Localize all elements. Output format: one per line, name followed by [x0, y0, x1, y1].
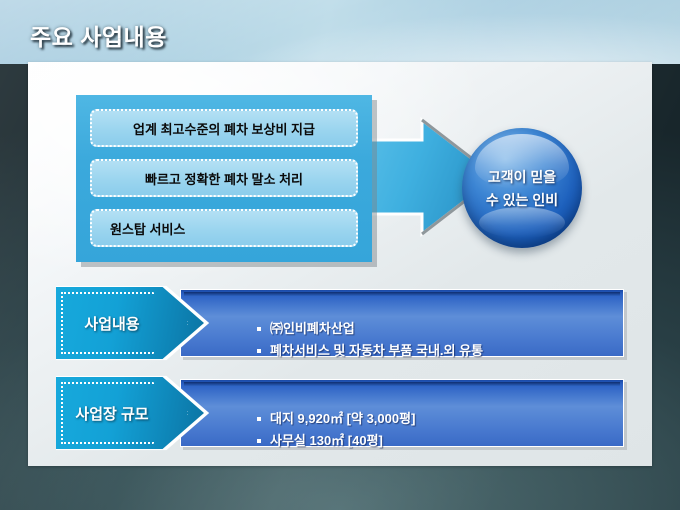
sphere-text: 고객이 믿을 수 있는 인비: [462, 128, 582, 248]
feature-box: 업계 최고수준의 폐차 보상비 지급 빠르고 정확한 폐차 말소 처리 원스탑 …: [76, 95, 372, 262]
info-row-bullets: 대지 9,920㎡ [약 3,000평] 사무실 130㎡ [40평]: [217, 408, 613, 452]
info-row-label: 사업장 규모: [56, 377, 204, 449]
slide-canvas: 주요 사업내용 업계 최고수준의 폐차 보상비 지급 빠르고 정확한 폐차 말소…: [0, 0, 680, 510]
row-top-edge: [184, 292, 620, 296]
list-item: 사무실 130㎡ [40평]: [257, 430, 613, 452]
sphere-badge: 고객이 믿을 수 있는 인비: [462, 128, 582, 248]
info-row-body: 대지 9,920㎡ [약 3,000평] 사무실 130㎡ [40평]: [180, 379, 624, 447]
feature-item[interactable]: 업계 최고수준의 폐차 보상비 지급: [90, 109, 358, 147]
feature-item[interactable]: 원스탑 서비스: [90, 209, 358, 247]
info-row-label-text: 사업장 규모: [56, 377, 168, 449]
info-row-body: ㈜인비폐차산업 폐차서비스 및 자동차 부품 국내.외 유통: [180, 289, 624, 357]
info-row-site-size: 대지 9,920㎡ [약 3,000평] 사무실 130㎡ [40평] 사업장 …: [56, 377, 624, 449]
info-row-label-text: 사업내용: [56, 287, 168, 359]
page-title: 주요 사업내용: [30, 18, 167, 52]
list-item: ㈜인비폐차산업: [257, 318, 613, 340]
list-item: 폐차서비스 및 자동차 부품 국내.외 유통: [257, 340, 613, 362]
feature-item[interactable]: 빠르고 정확한 폐차 말소 처리: [90, 159, 358, 197]
info-row-bullets: ㈜인비폐차산업 폐차서비스 및 자동차 부품 국내.외 유통: [217, 318, 613, 362]
feature-item-label: 원스탑 서비스: [92, 219, 356, 238]
list-item: 대지 9,920㎡ [약 3,000평]: [257, 408, 613, 430]
row-top-edge: [184, 382, 620, 386]
sphere-line-2: 수 있는 인비: [486, 190, 558, 210]
feature-item-label: 빠르고 정확한 폐차 말소 처리: [92, 169, 356, 188]
feature-item-label: 업계 최고수준의 폐차 보상비 지급: [92, 119, 356, 138]
sphere-line-1: 고객이 믿을: [488, 167, 556, 187]
info-row-business-content: ㈜인비폐차산업 폐차서비스 및 자동차 부품 국내.외 유통 사업내용: [56, 287, 624, 359]
info-row-label: 사업내용: [56, 287, 204, 359]
